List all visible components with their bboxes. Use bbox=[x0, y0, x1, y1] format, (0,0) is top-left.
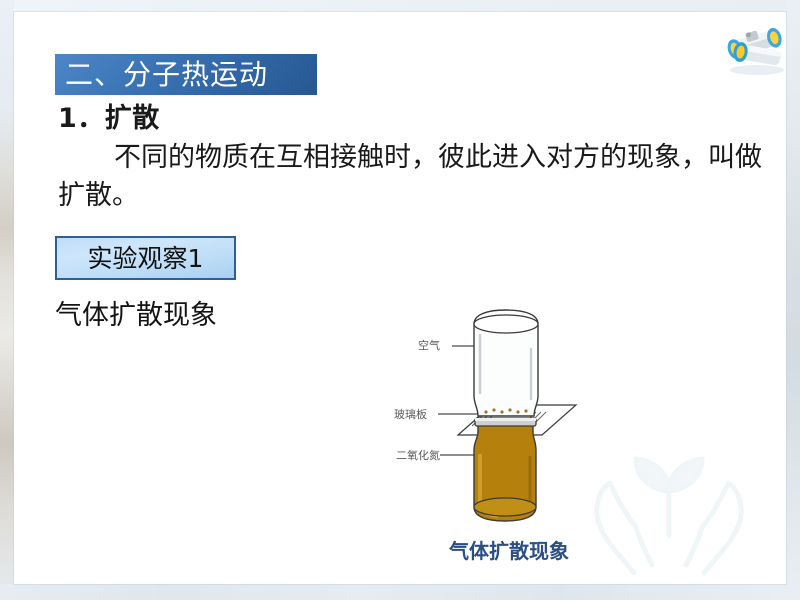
observation-callout-label: 实验观察1 bbox=[88, 246, 204, 271]
air-bottle bbox=[474, 310, 538, 416]
figure-label-air: 空气 bbox=[418, 340, 440, 351]
body-line-2: 不同的物质在互相接触时，彼此进入对方的现象，叫做扩散。 bbox=[58, 139, 768, 214]
section-heading-text: 二、分子热运动 bbox=[65, 61, 268, 89]
section-heading-banner: 二、分子热运动 bbox=[55, 54, 317, 95]
slide-left-edge-decoration bbox=[0, 0, 14, 600]
slide-right-edge-decoration bbox=[786, 0, 800, 600]
figure-label-nitrogen-dioxide: 二氧化氮 bbox=[396, 450, 440, 461]
observation-callout-box: 实验观察1 bbox=[55, 236, 236, 280]
figure-caption: 气体扩散现象 bbox=[394, 541, 624, 561]
slide-bottom-edge-decoration bbox=[0, 584, 800, 600]
binoculars-icon[interactable] bbox=[720, 23, 794, 77]
slide-content-board: 二、分子热运动 1．扩散 不同的物质在互相接触时，彼此进入对方的现象，叫做扩散。… bbox=[14, 12, 786, 584]
body-paragraph: 1．扩散 不同的物质在互相接触时，彼此进入对方的现象，叫做扩散。 bbox=[58, 100, 768, 214]
slide-canvas: 二、分子热运动 1．扩散 不同的物质在互相接触时，彼此进入对方的现象，叫做扩散。… bbox=[0, 0, 800, 600]
nitrogen-dioxide-bottle bbox=[474, 418, 536, 521]
gas-diffusion-subtitle: 气体扩散现象 bbox=[55, 302, 217, 329]
body-line-1: 1．扩散 bbox=[58, 100, 768, 137]
gas-diffusion-apparatus-figure: 空气 玻璃板 二氧化氮 bbox=[394, 304, 624, 566]
figure-label-glass-plate: 玻璃板 bbox=[394, 409, 427, 420]
